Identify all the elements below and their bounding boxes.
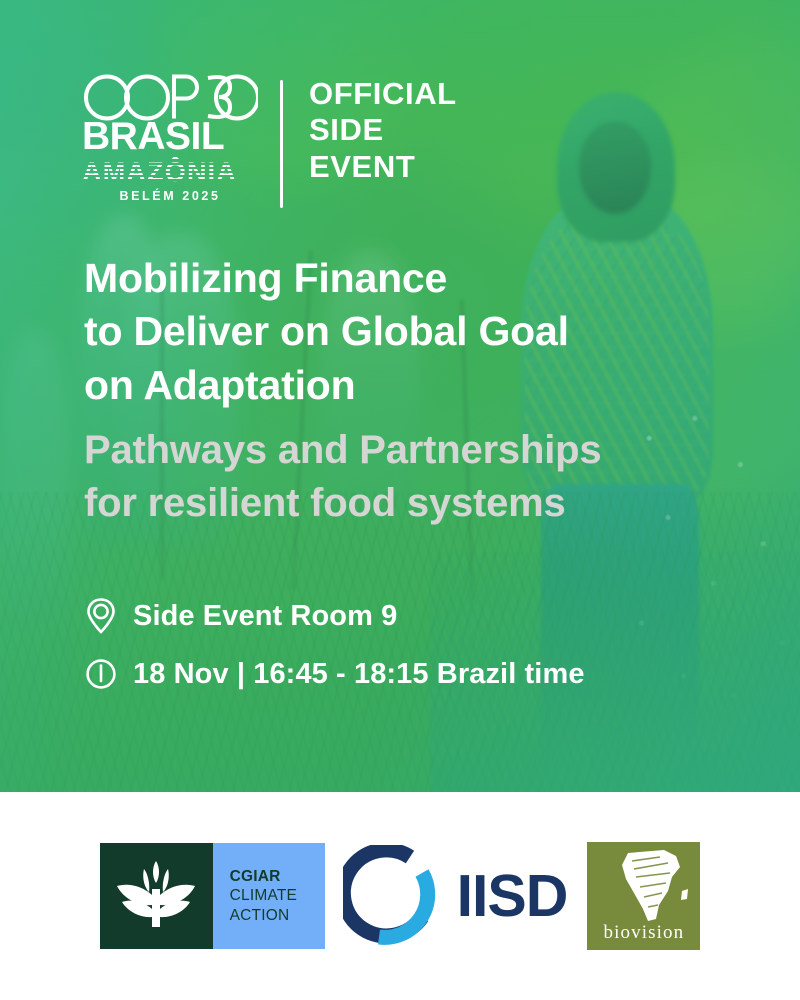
venue-row: Side Event Room 9 (84, 596, 585, 636)
biovision-logo: biovision (587, 842, 700, 950)
cgiar-wheat-icon (113, 855, 199, 937)
brasil-wordmark-icon: BRASIL (82, 117, 258, 157)
biovision-wordmark: biovision (604, 922, 685, 950)
subtitle-line-2: for resilient food systems (84, 477, 724, 530)
iisd-wordmark: IISD (457, 862, 568, 930)
cgiar-logo-mark (100, 843, 213, 949)
badge-line-1: OFFICIAL (309, 76, 457, 112)
event-poster: BRASIL AMAZÔNIA BELÉM 2025 OFFICIAL SIDE… (0, 0, 800, 1000)
official-side-event-badge: OFFICIAL SIDE EVENT (309, 74, 457, 185)
cgiar-line-2: CLIMATE (230, 886, 325, 906)
clock-icon (84, 654, 118, 694)
cgiar-wordmark: CGIAR CLIMATE ACTION (213, 843, 325, 949)
subtitle-line-1: Pathways and Partnerships (84, 424, 724, 477)
hero-banner: BRASIL AMAZÔNIA BELÉM 2025 OFFICIAL SIDE… (0, 0, 800, 792)
title-block: Mobilizing Finance to Deliver on Global … (84, 252, 724, 530)
iisd-logo: IISD (343, 845, 568, 947)
event-subtitle: Pathways and Partnerships for resilient … (84, 424, 724, 530)
title-line-2: to Deliver on Global Goal (84, 305, 724, 358)
amazonia-wordmark: AMAZÔNIA (82, 159, 258, 185)
cgiar-line-1: CGIAR (230, 867, 325, 887)
title-line-1: Mobilizing Finance (84, 252, 724, 305)
africa-map-icon (612, 847, 694, 925)
venue-label: Side Event Room 9 (133, 600, 397, 633)
partner-logo-bar: CGIAR CLIMATE ACTION IISD (0, 792, 800, 1000)
badge-line-3: EVENT (309, 149, 457, 185)
svg-text:BRASIL: BRASIL (82, 117, 224, 157)
cop30-wordmark-icon (82, 74, 258, 121)
header-divider (280, 80, 283, 208)
badge-line-2: SIDE (309, 112, 457, 148)
amazonia-text: AMAZÔNIA (82, 157, 237, 187)
time-row: 18 Nov | 16:45 - 18:15 Brazil time (84, 654, 585, 694)
iisd-ring-icon (343, 845, 445, 947)
title-line-3: on Adaptation (84, 359, 724, 412)
cgiar-line-3: ACTION (230, 906, 325, 926)
location-pin-icon (84, 596, 118, 636)
cop30-logo: BRASIL AMAZÔNIA BELÉM 2025 (82, 74, 258, 203)
partner-logos: CGIAR CLIMATE ACTION IISD (100, 842, 701, 950)
event-details: Side Event Room 9 18 Nov | 16:45 - 18:15… (84, 596, 585, 712)
event-title: Mobilizing Finance to Deliver on Global … (84, 252, 724, 412)
belem-year-label: BELÉM 2025 (82, 189, 258, 203)
datetime-label: 18 Nov | 16:45 - 18:15 Brazil time (133, 658, 585, 691)
poster-header: BRASIL AMAZÔNIA BELÉM 2025 OFFICIAL SIDE… (82, 74, 457, 208)
